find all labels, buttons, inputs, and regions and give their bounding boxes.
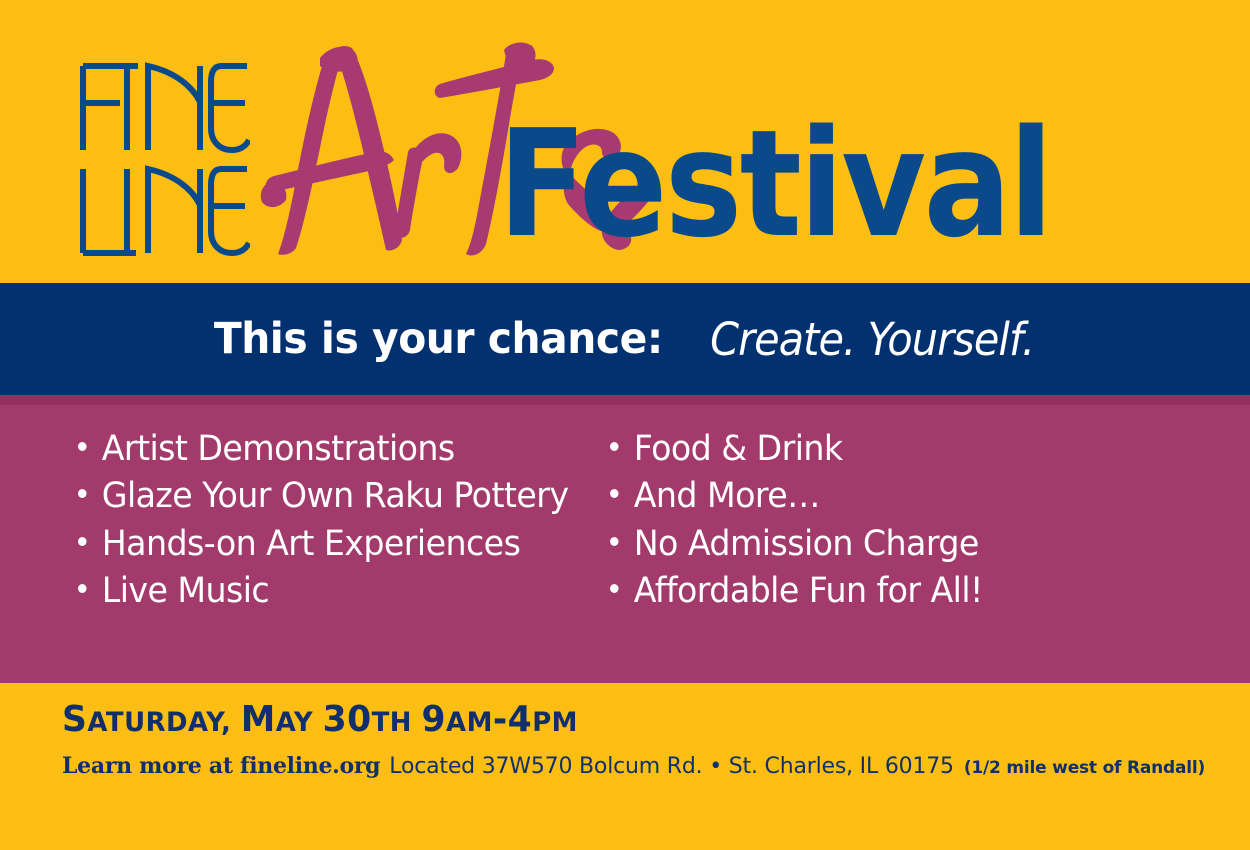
list-item: And More… [610, 474, 1218, 518]
learn-more-link[interactable]: Learn more at fineline.org [62, 753, 380, 779]
bullet-icon [78, 584, 87, 593]
list-item: Glaze Your Own Raku Pottery [78, 474, 583, 518]
bullet-icon [78, 489, 87, 498]
banner-lead-text: This is your chance: [213, 314, 662, 364]
list-item-label: Food & Drink [634, 427, 843, 471]
date-part: S [62, 699, 87, 740]
festival-wordmark: Festival [498, 110, 1051, 258]
bullet-icon [78, 537, 87, 546]
venue-address: Located 37W570 Bolcum Rd. • St. Charles,… [389, 754, 954, 779]
poster-canvas: Festival This is your chance: Create. Yo… [0, 0, 1250, 850]
directions-note: (1/2 mile west of Randall) [964, 758, 1205, 778]
event-date-time: SATURDAY, MAY 30TH 9AM-4PM [62, 699, 578, 740]
list-item-label: And More… [634, 474, 820, 518]
date-part: 9 [421, 699, 446, 740]
footer-info-line: Learn more at fineline.orgLocated 37W570… [62, 753, 1205, 779]
date-part: AY [276, 707, 323, 738]
list-item: Live Music [78, 569, 583, 613]
features-right-column: Food & Drink And More… No Admission Char… [610, 427, 1250, 683]
poster-header: Festival [0, 0, 1250, 283]
date-part: TH [372, 707, 422, 738]
list-item: Food & Drink [610, 427, 1218, 471]
bullet-icon [610, 442, 619, 451]
date-part: PM [532, 707, 578, 738]
list-item-label: Glaze Your Own Raku Pottery [102, 474, 569, 518]
tagline-banner: This is your chance: Create. Yourself. [0, 283, 1250, 395]
bullet-icon [610, 489, 619, 498]
date-part: -4 [493, 699, 532, 740]
date-part: AM [446, 707, 493, 738]
date-part: 30 [323, 699, 372, 740]
list-item-label: Artist Demonstrations [102, 427, 455, 471]
date-part: M [241, 699, 276, 740]
date-part: ATURDAY, [87, 707, 241, 738]
list-item: Affordable Fun for All! [610, 569, 1218, 613]
features-section: Artist Demonstrations Glaze Your Own Rak… [0, 395, 1250, 683]
list-item: No Admission Charge [610, 522, 1218, 566]
bullet-icon [610, 584, 619, 593]
fineline-logo-icon [80, 58, 250, 263]
poster-footer: SATURDAY, MAY 30TH 9AM-4PM Learn more at… [0, 683, 1250, 850]
list-item-label: Live Music [102, 569, 269, 613]
banner-tagline-text: Create. Yourself. [710, 313, 1034, 366]
list-item: Artist Demonstrations [78, 427, 583, 471]
bullet-icon [610, 537, 619, 546]
list-item-label: No Admission Charge [634, 522, 979, 566]
features-left-column: Artist Demonstrations Glaze Your Own Rak… [0, 427, 610, 683]
bullet-icon [78, 442, 87, 451]
list-item-label: Affordable Fun for All! [634, 569, 983, 613]
list-item-label: Hands-on Art Experiences [102, 522, 521, 566]
list-item: Hands-on Art Experiences [78, 522, 583, 566]
